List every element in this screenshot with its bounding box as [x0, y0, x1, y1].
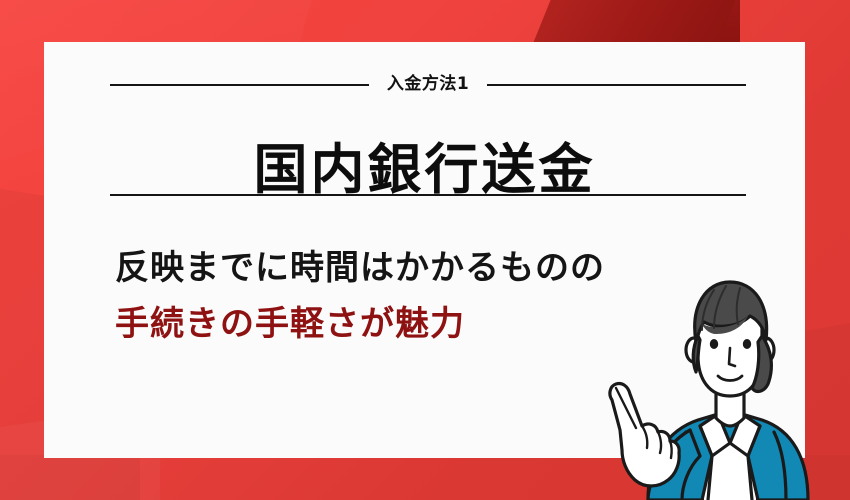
- body-line-emphasis: 手続きの手軽さが魅力: [115, 296, 715, 352]
- slide-canvas: 入金方法1 国内銀行送金 反映までに時間はかかるものの 手続きの手軽さが魅力: [0, 0, 850, 500]
- body-copy: 反映までに時間はかかるものの 手続きの手軽さが魅力: [115, 240, 715, 352]
- page-title: 国内銀行送金: [44, 140, 805, 199]
- eyebrow-label-row: 入金方法1: [110, 76, 746, 93]
- headline-divider: [110, 194, 746, 196]
- rule-left: [110, 84, 369, 86]
- eyebrow-label: 入金方法1: [387, 76, 469, 93]
- body-line-primary: 反映までに時間はかかるものの: [115, 240, 715, 296]
- content-card: 入金方法1 国内銀行送金 反映までに時間はかかるものの 手続きの手軽さが魅力: [44, 42, 805, 458]
- background-facet-bottom: [0, 455, 850, 500]
- rule-right: [487, 84, 746, 86]
